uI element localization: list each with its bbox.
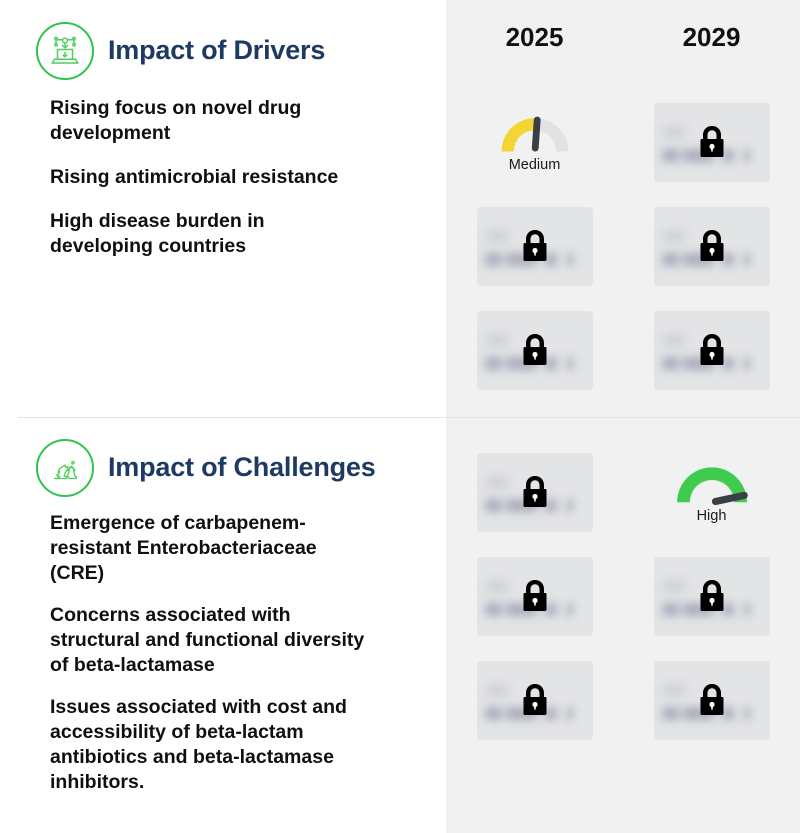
locked-tile[interactable] xyxy=(654,661,770,740)
rating-cell-drivers-2-2029[interactable] xyxy=(623,194,800,298)
lock-icon xyxy=(519,682,551,719)
factors-panel: Impact of Drivers Rising focus on novel … xyxy=(0,0,446,833)
locked-tile[interactable] xyxy=(477,207,593,286)
locked-tile[interactable] xyxy=(477,661,593,740)
driver-bullet-3: High disease burden in developing countr… xyxy=(50,209,356,259)
ratings-row: High xyxy=(446,440,800,544)
year-header-2029: 2029 xyxy=(623,22,800,53)
rating-cell-challenges-1-2025[interactable] xyxy=(446,440,623,544)
lock-icon xyxy=(696,578,728,615)
challenge-bullet-1: Emergence of carbapenem-resistant Entero… xyxy=(50,511,366,586)
driver-bullet-1: Rising focus on novel drug development xyxy=(50,96,356,146)
challenge-bullet-2: Concerns associated with structural and … xyxy=(50,603,366,678)
locked-tile[interactable] xyxy=(654,103,770,182)
drivers-header: Impact of Drivers xyxy=(0,0,446,84)
rating-cell-drivers-3-2025[interactable] xyxy=(446,298,623,402)
year-header-row: 2025 2029 xyxy=(446,0,800,90)
year-header-2025: 2025 xyxy=(446,22,623,53)
gauge-medium: Medium xyxy=(497,112,573,173)
ratings-row xyxy=(446,298,800,402)
rating-cell-drivers-3-2029[interactable] xyxy=(623,298,800,402)
rating-cell-challenges-3-2025[interactable] xyxy=(446,648,623,752)
lock-icon xyxy=(519,474,551,511)
drivers-section: Impact of Drivers Rising focus on novel … xyxy=(0,0,446,417)
locked-tile[interactable] xyxy=(654,207,770,286)
ratings-row xyxy=(446,194,800,298)
innovation-laptop-icon xyxy=(36,22,94,80)
gauge-high-label: High xyxy=(697,508,727,524)
chess-pieces-icon xyxy=(36,439,94,497)
rating-cell-challenges-3-2029[interactable] xyxy=(623,648,800,752)
lock-icon xyxy=(696,682,728,719)
rating-cell-challenges-2-2025[interactable] xyxy=(446,544,623,648)
rating-cell-challenges-2-2029[interactable] xyxy=(623,544,800,648)
challenges-header: Impact of Challenges xyxy=(0,417,446,501)
drivers-ratings: Medium xyxy=(446,90,800,417)
lock-icon xyxy=(696,124,728,161)
challenges-title: Impact of Challenges xyxy=(108,453,376,483)
driver-bullet-2: Rising antimicrobial resistance xyxy=(50,165,356,190)
lock-icon xyxy=(519,228,551,265)
section-divider-left xyxy=(18,417,446,418)
drivers-bullet-list: Rising focus on novel drug development R… xyxy=(0,84,446,259)
gauge-high-icon xyxy=(672,461,752,507)
rating-cell-drivers-2-2025[interactable] xyxy=(446,194,623,298)
ratings-panel: 2025 2029 Medium xyxy=(446,0,800,833)
rating-cell-drivers-1-2025[interactable]: Medium xyxy=(446,90,623,194)
lock-icon xyxy=(519,332,551,369)
ratings-row: Medium xyxy=(446,90,800,194)
locked-tile[interactable] xyxy=(477,311,593,390)
locked-tile[interactable] xyxy=(654,311,770,390)
lock-icon xyxy=(519,578,551,615)
gauge-high: High xyxy=(672,461,752,524)
ratings-row xyxy=(446,544,800,648)
rating-cell-challenges-1-2029[interactable]: High xyxy=(623,440,800,544)
section-divider-right xyxy=(446,417,800,418)
impact-matrix: Impact of Drivers Rising focus on novel … xyxy=(0,0,800,833)
ratings-row xyxy=(446,648,800,752)
gauge-medium-icon xyxy=(497,112,573,156)
challenges-ratings: High xyxy=(446,417,800,833)
locked-tile[interactable] xyxy=(477,557,593,636)
lock-icon xyxy=(696,228,728,265)
locked-tile[interactable] xyxy=(477,453,593,532)
challenges-section: Impact of Challenges Emergence of carbap… xyxy=(0,417,446,833)
drivers-title: Impact of Drivers xyxy=(108,36,325,66)
locked-tile[interactable] xyxy=(654,557,770,636)
challenge-bullet-3: Issues associated with cost and accessib… xyxy=(50,695,366,795)
challenges-bullet-list: Emergence of carbapenem-resistant Entero… xyxy=(0,501,446,795)
lock-icon xyxy=(696,332,728,369)
gauge-medium-label: Medium xyxy=(509,157,561,173)
rating-cell-drivers-1-2029[interactable] xyxy=(623,90,800,194)
